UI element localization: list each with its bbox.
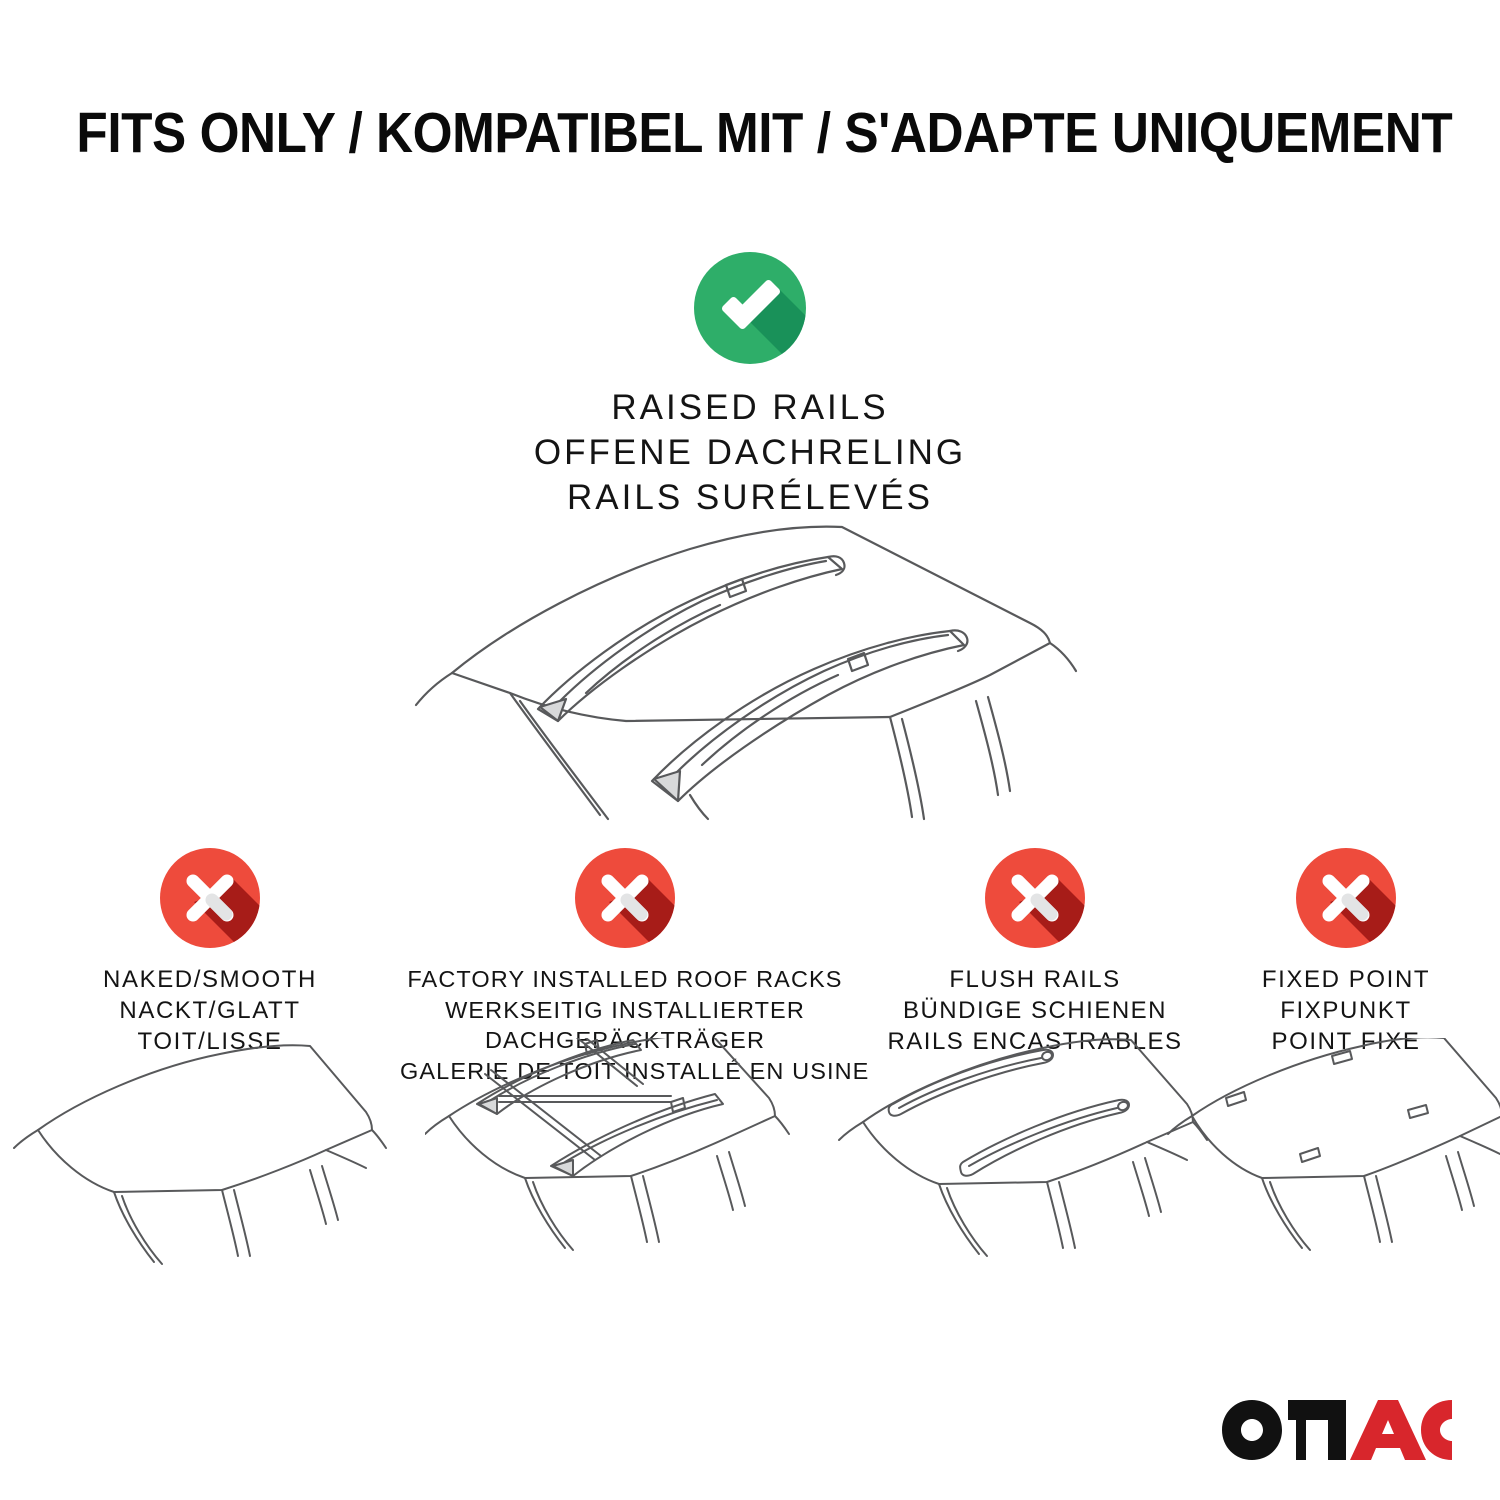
not-compatible-item-naked-smooth: NAKED/SMOOTH NACKT/GLATT TOIT/LISSE — [30, 848, 390, 1058]
x-circle-icon — [160, 848, 260, 948]
not-compatible-item-fixed-point: FIXED POINT FIXPUNKT POINT FIXE — [1218, 848, 1474, 1058]
car-roof-fixed-point-illustration — [1166, 1038, 1500, 1288]
item-label-en: NAKED/SMOOTH — [30, 964, 390, 995]
check-circle-icon — [694, 252, 806, 364]
compatible-label-de: OFFENE DACHRELING — [0, 431, 1500, 476]
item-label-de: BÜNDIGE SCHIENEN — [860, 995, 1210, 1026]
x-circle-icon — [575, 848, 675, 948]
x-circle-icon — [1296, 848, 1396, 948]
item-label-en: FLUSH RAILS — [860, 964, 1210, 995]
compatible-section: RAISED RAILS OFFENE DACHRELING RAILS SUR… — [0, 252, 1500, 520]
item-label-de: NACKT/GLATT — [30, 995, 390, 1026]
not-compatible-section: NAKED/SMOOTH NACKT/GLATT TOIT/LISSE — [0, 848, 1500, 1328]
car-roof-naked-smooth-illustration — [10, 1038, 410, 1288]
item-label-en: FACTORY INSTALLED ROOF RACKS — [400, 964, 850, 995]
logo-letter-a — [1350, 1400, 1426, 1460]
item-label-de: FIXPUNKT — [1218, 995, 1474, 1026]
x-circle-icon — [985, 848, 1085, 948]
compatible-label-en: RAISED RAILS — [0, 386, 1500, 431]
car-roof-raised-rails-illustration — [390, 505, 1110, 825]
not-compatible-item-factory-roof-racks: FACTORY INSTALLED ROOF RACKS WERKSEITIG … — [400, 848, 850, 1086]
car-roof-factory-roof-racks-illustration — [425, 1038, 825, 1288]
item-label-de-1: WERKSEITIG INSTALLIERTER — [400, 995, 850, 1026]
not-compatible-item-flush-rails: FLUSH RAILS BÜNDIGE SCHIENEN RAILS ENCAS… — [860, 848, 1210, 1058]
omac-logo — [1222, 1392, 1452, 1464]
header: FITS ONLY / KOMPATIBEL MIT / S'ADAPTE UN… — [0, 104, 1500, 164]
compatible-labels: RAISED RAILS OFFENE DACHRELING RAILS SUR… — [0, 386, 1500, 520]
page-title: FITS ONLY / KOMPATIBEL MIT / S'ADAPTE UN… — [76, 104, 1452, 164]
logo-letter-o — [1222, 1400, 1282, 1460]
item-label-en: FIXED POINT — [1218, 964, 1474, 995]
logo-letter-c — [1421, 1400, 1452, 1460]
